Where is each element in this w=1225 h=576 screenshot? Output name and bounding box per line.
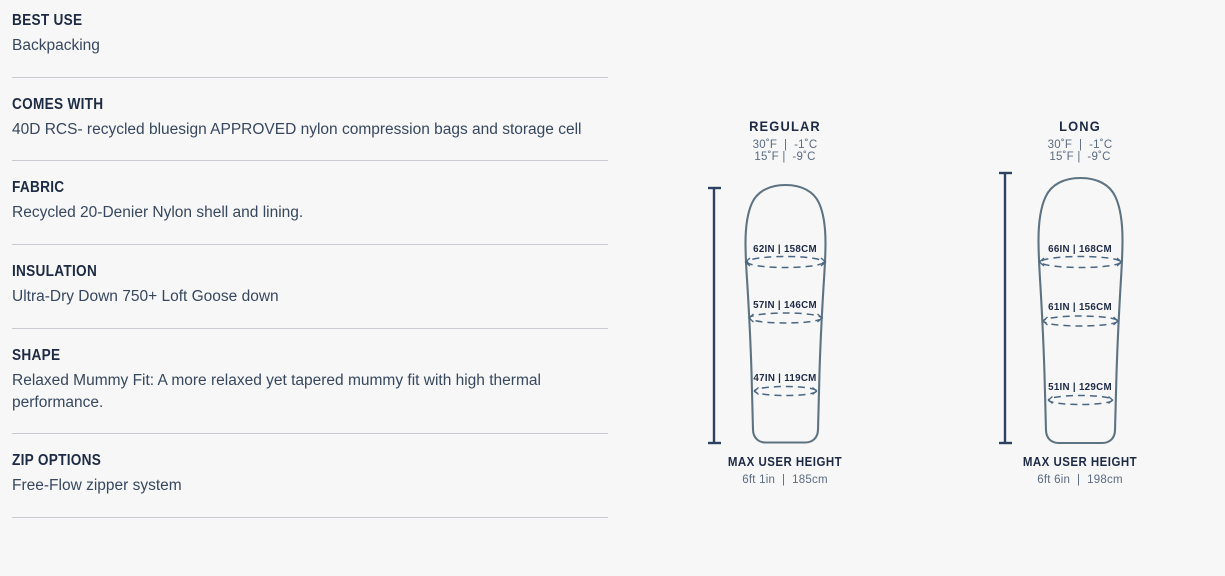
sleeping-bag-diagram xyxy=(640,0,930,576)
size-column-long: LONG 30˚F | -1˚C 15˚F | -9˚C xyxy=(935,0,1225,576)
measurement-label-3: 51IN | 129CM xyxy=(1006,381,1155,393)
size-diagram-panel: REGULAR 30˚F | -1˚C 15˚F | -9˚C xyxy=(640,0,1225,576)
spec-row-zip-options: ZIP OPTIONS Free-Flow zipper system xyxy=(0,434,620,497)
measurement-indicator-1 xyxy=(746,257,826,268)
spec-row-insulation: INSULATION Ultra-Dry Down 750+ Loft Goos… xyxy=(0,245,620,308)
spec-heading: INSULATION xyxy=(12,263,536,280)
spec-heading: SHAPE xyxy=(12,347,536,364)
measurement-label-2: 61IN | 156CM xyxy=(1006,301,1155,313)
spec-value: Relaxed Mummy Fit: A more relaxed yet ta… xyxy=(12,370,592,414)
measurement-indicator-3 xyxy=(755,387,817,396)
spec-value: 40D RCS- recycled bluesign APPROVED nylo… xyxy=(12,119,592,141)
spec-value: Recycled 20-Denier Nylon shell and linin… xyxy=(12,202,592,224)
measurement-indicator-2 xyxy=(1043,316,1118,326)
measurement-label-3: 47IN | 119CM xyxy=(711,372,860,384)
spec-value: Ultra-Dry Down 750+ Loft Goose down xyxy=(12,286,592,308)
spec-row-comes-with: COMES WITH 40D RCS- recycled bluesign AP… xyxy=(0,78,620,141)
spec-heading: COMES WITH xyxy=(12,96,536,113)
max-user-height-value: 6ft 6in | 198cm xyxy=(935,474,1225,486)
spec-row-best-use: BEST USE Backpacking xyxy=(0,0,620,57)
measurement-label-2: 57IN | 146CM xyxy=(711,299,860,311)
spec-heading: ZIP OPTIONS xyxy=(12,452,536,469)
max-user-height-value: 6ft 1in | 185cm xyxy=(640,474,930,486)
size-column-regular: REGULAR 30˚F | -1˚C 15˚F | -9˚C xyxy=(640,0,930,576)
spec-heading: BEST USE xyxy=(12,12,536,29)
measurement-label-1: 62IN | 158CM xyxy=(711,243,860,255)
spec-divider xyxy=(12,517,608,518)
measurement-indicator-2 xyxy=(749,313,822,323)
measurement-indicator-1 xyxy=(1040,257,1122,268)
spec-value: Free-Flow zipper system xyxy=(12,475,592,497)
product-spec-list: BEST USE Backpacking COMES WITH 40D RCS-… xyxy=(0,0,620,576)
max-user-height-title: MAX USER HEIGHT xyxy=(652,455,919,469)
spec-heading: FABRIC xyxy=(12,179,536,196)
max-user-height-title: MAX USER HEIGHT xyxy=(947,455,1214,469)
measurement-label-1: 66IN | 168CM xyxy=(1006,243,1155,255)
measurement-indicator-3 xyxy=(1049,396,1113,405)
sleeping-bag-diagram xyxy=(935,0,1225,576)
spec-row-shape: SHAPE Relaxed Mummy Fit: A more relaxed … xyxy=(0,329,620,414)
spec-value: Backpacking xyxy=(12,35,592,57)
spec-row-fabric: FABRIC Recycled 20-Denier Nylon shell an… xyxy=(0,161,620,224)
max-height-ruler-icon xyxy=(708,188,721,443)
